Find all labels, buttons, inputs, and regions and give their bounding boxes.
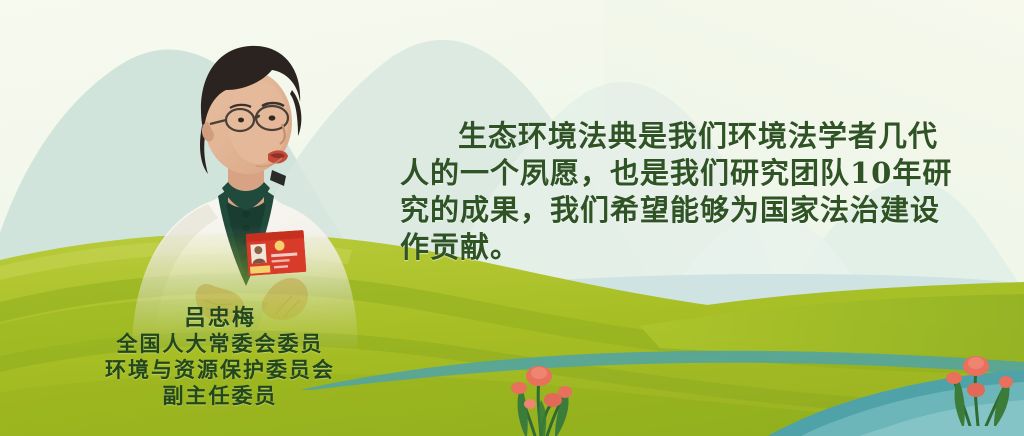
speaker-title-line-2: 环境与资源保护委员会 [40,357,400,383]
flower-cluster-right [940,346,1024,431]
speaker-portrait [96,18,396,348]
quote-card: 生态环境法典是我们环境法学者几代 人的一个夙愿，也是我们研究团队10年研 究的成… [0,0,1024,436]
quote-line-1: 生态环境法典是我们环境法学者几代 [400,118,1000,155]
speaker-title-line-1: 全国人大常委会委员 [40,331,400,357]
delegate-id-badge [246,230,305,274]
quote-text: 生态环境法典是我们环境法学者几代 人的一个夙愿，也是我们研究团队10年研 究的成… [400,118,1000,266]
speaker-caption: 吕忠梅 全国人大常委会委员 环境与资源保护委员会 副主任委员 [40,305,400,409]
flower-cluster-center [495,352,587,436]
quote-line-4: 作贡献。 [400,229,1000,266]
quote-line-3: 究的成果，我们希望能够为国家法治建设 [400,192,1000,229]
speaker-name: 吕忠梅 [40,305,400,331]
quote-line-2: 人的一个夙愿，也是我们研究团队10年研 [400,155,1000,192]
speaker-title-line-3: 副主任委员 [40,383,400,409]
river-band [300,344,1024,390]
